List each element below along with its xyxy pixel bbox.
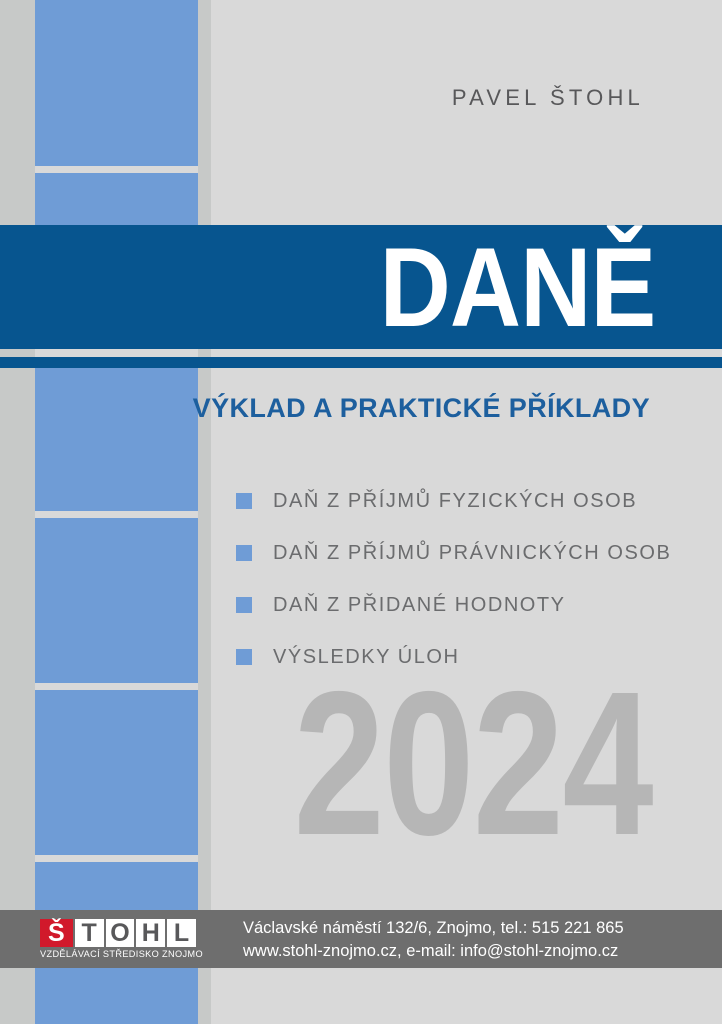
- book-cover: PAVEL ŠTOHL DANĚ VÝKLAD A PRAKTICKÉ PŘÍK…: [0, 0, 722, 1024]
- publisher-address: Václavské náměstí 132/6, Znojmo, tel.: 5…: [243, 917, 624, 940]
- blue-column-segment-5: [35, 690, 198, 855]
- inner-edge-strip: [198, 0, 211, 1024]
- square-bullet-icon: [236, 597, 252, 613]
- blue-column-segment-3: [35, 368, 198, 511]
- subtitle: VÝKLAD A PRAKTICKÉ PŘÍKLADY: [193, 393, 650, 424]
- topic-label: DAŇ Z PŘÍJMŮ PRÁVNICKÝCH OSOB: [273, 542, 671, 565]
- author-name: PAVEL ŠTOHL: [452, 85, 644, 111]
- logo-letter-o: O: [106, 919, 135, 947]
- square-bullet-icon: [236, 649, 252, 665]
- blue-column-segment-2: [35, 173, 198, 225]
- logo-letter-t: T: [75, 919, 104, 947]
- blue-column-segment-1: [35, 0, 198, 166]
- list-item: DAŇ Z PŘÍJMŮ FYZICKÝCH OSOB: [236, 475, 696, 527]
- list-item: DAŇ Z PŘIDANÉ HODNOTY: [236, 579, 696, 631]
- edition-year: 2024: [294, 661, 652, 866]
- logo-letter-row: Š T O H L: [40, 919, 196, 947]
- square-bullet-icon: [236, 545, 252, 561]
- title-rule: [0, 357, 722, 368]
- logo-letter-l: L: [167, 919, 196, 947]
- list-item: DAŇ Z PŘÍJMŮ PRÁVNICKÝCH OSOB: [236, 527, 696, 579]
- logo-letter-h: H: [136, 919, 165, 947]
- square-bullet-icon: [236, 493, 252, 509]
- publisher-logo: Š T O H L VZDĚLÁVACÍ STŘEDISKO ZNOJMO: [40, 919, 196, 959]
- publisher-web: www.stohl-znojmo.cz, e-mail: info@stohl-…: [243, 940, 624, 963]
- topic-label: DAŇ Z PŘIDANÉ HODNOTY: [273, 594, 566, 617]
- publisher-contact: Václavské náměstí 132/6, Znojmo, tel.: 5…: [243, 917, 624, 963]
- publisher-tagline: VZDĚLÁVACÍ STŘEDISKO ZNOJMO: [40, 949, 196, 959]
- topic-label: DAŇ Z PŘÍJMŮ FYZICKÝCH OSOB: [273, 490, 637, 513]
- logo-letter-s: Š: [40, 919, 73, 947]
- page-title: DANĚ: [379, 232, 655, 344]
- blue-column-segment-4: [35, 518, 198, 683]
- left-edge-strip: [0, 0, 35, 1024]
